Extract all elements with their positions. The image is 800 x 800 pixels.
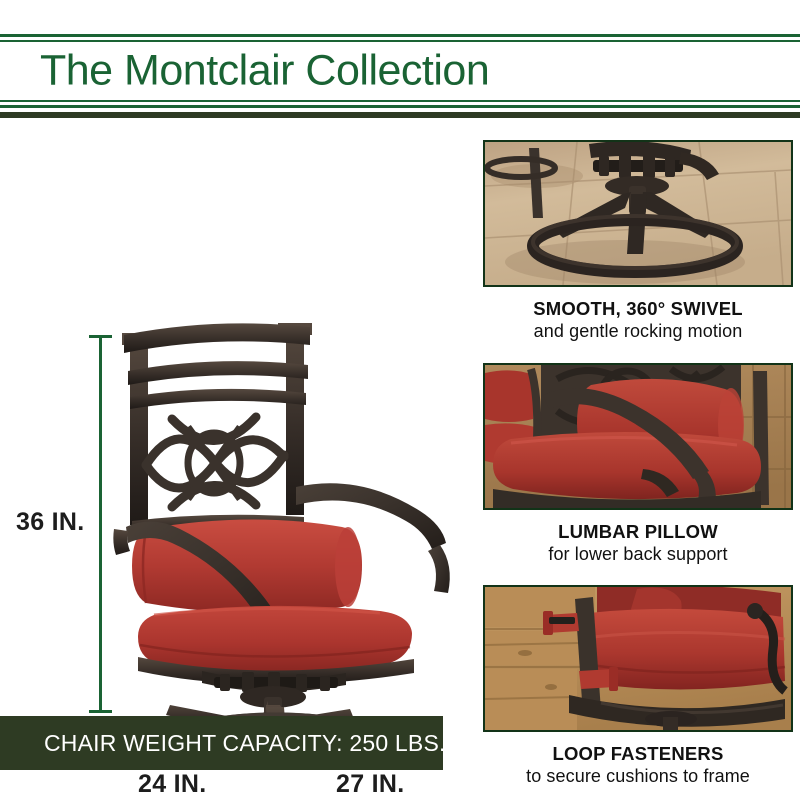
weight-capacity-text: CHAIR WEIGHT CAPACITY: 250 LBS. <box>0 730 446 757</box>
seat-cushion <box>138 606 412 674</box>
height-dimension-label: 36 IN. <box>16 508 85 537</box>
swivel-subtitle: and gentle rocking motion <box>483 320 793 343</box>
lumbar-pillow-photo-art <box>485 365 791 508</box>
chair-illustration <box>110 315 460 725</box>
height-dimension-line <box>99 335 102 713</box>
header-underbar <box>0 112 800 118</box>
depth-dimension-label: 27 IN. <box>336 770 405 799</box>
page-title: The Montclair Collection <box>40 47 489 96</box>
weight-capacity-banner: CHAIR WEIGHT CAPACITY: 250 LBS. <box>0 716 443 770</box>
height-dimension-cap-bottom <box>89 710 112 713</box>
feature-lumbar-pillow: LUMBAR PILLOW for lower back support <box>483 363 793 566</box>
lumbar-title: LUMBAR PILLOW <box>483 521 793 542</box>
lumbar-subtitle: for lower back support <box>483 543 793 566</box>
loop-fasteners-photo-art <box>485 587 791 730</box>
loop-fasteners-photo <box>483 585 793 732</box>
swivel-caption: SMOOTH, 360° SWIVEL and gentle rocking m… <box>483 287 793 343</box>
feature-loop-fasteners: LOOP FASTENERS to secure cushions to fra… <box>483 585 793 788</box>
loop-caption: LOOP FASTENERS to secure cushions to fra… <box>483 732 793 788</box>
chair-back <box>122 323 312 535</box>
feature-swivel: SMOOTH, 360° SWIVEL and gentle rocking m… <box>483 140 793 343</box>
swivel-title: SMOOTH, 360° SWIVEL <box>483 298 793 319</box>
width-dimension-label: 24 IN. <box>138 770 207 799</box>
lumbar-pillow-photo <box>483 363 793 510</box>
height-dimension-cap-top <box>89 335 112 338</box>
loop-title: LOOP FASTENERS <box>483 743 793 764</box>
loop-subtitle: to secure cushions to frame <box>483 765 793 788</box>
lumbar-caption: LUMBAR PILLOW for lower back support <box>483 510 793 566</box>
swivel-base-photo-art <box>485 142 791 285</box>
header-banner: The Montclair Collection <box>0 34 800 108</box>
product-showcase: 36 IN. 24 IN. 27 IN. <box>0 130 470 700</box>
chair-product-image <box>110 315 460 725</box>
swivel-base-photo <box>483 140 793 287</box>
